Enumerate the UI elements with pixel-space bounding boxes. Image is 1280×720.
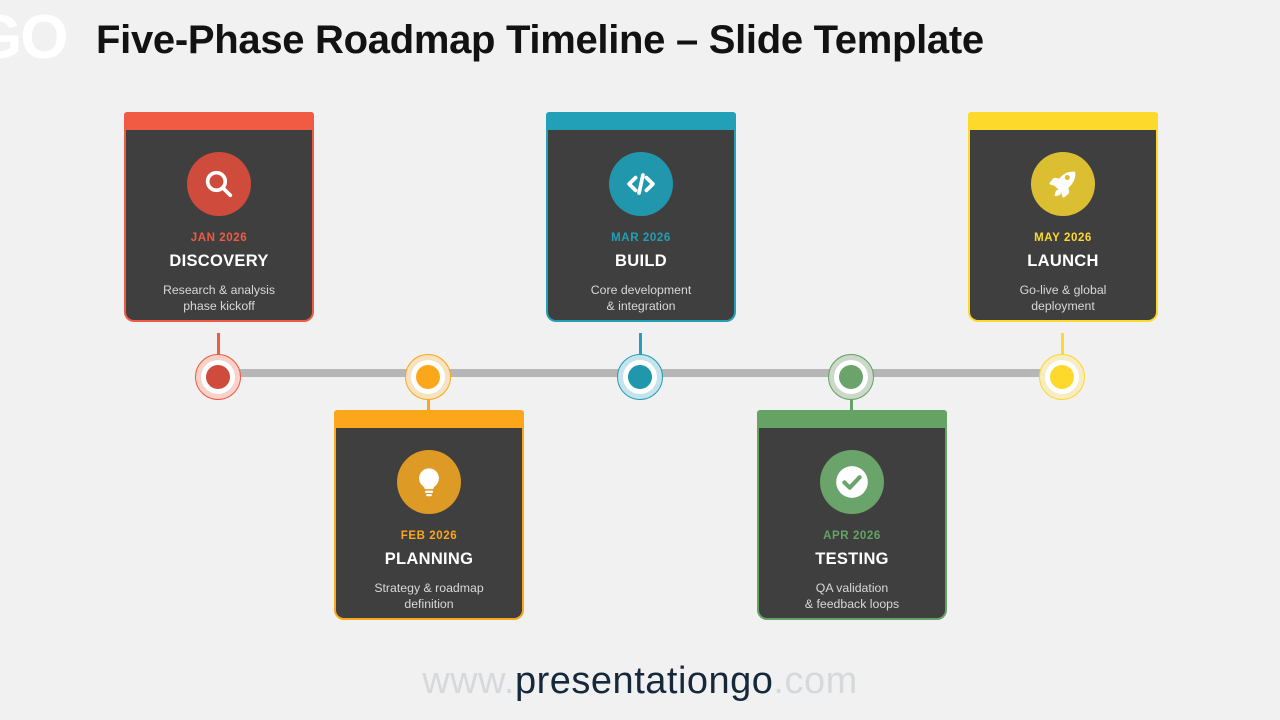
phase-heading-discovery: DISCOVERY: [136, 252, 302, 271]
phase-description-line1-planning: Strategy & roadmap: [346, 580, 512, 596]
timeline-marker-ring-discovery: [201, 360, 235, 394]
phase-heading-planning: PLANNING: [346, 550, 512, 569]
phase-description-line1-discovery: Research & analysis: [136, 282, 302, 298]
timeline-marker-testing[interactable]: [828, 354, 874, 400]
phase-description-launch: Go-live & globaldeployment: [980, 282, 1146, 314]
timeline-marker-ring-build: [623, 360, 657, 394]
footer-suffix: .com: [773, 660, 857, 702]
phase-card-topbar-planning: [334, 410, 524, 428]
phase-date-testing: APR 2026: [769, 530, 935, 542]
rocket-icon: [1031, 152, 1095, 216]
phase-description-line2-testing: & feedback loops: [769, 596, 935, 612]
phase-date-discovery: JAN 2026: [136, 232, 302, 244]
presentationgo-logo: GO: [0, 6, 84, 70]
phase-description-line2-launch: deployment: [980, 298, 1146, 314]
phase-card-planning[interactable]: FEB 2026PLANNINGStrategy & roadmapdefini…: [334, 410, 524, 620]
phase-description-testing: QA validation& feedback loops: [769, 580, 935, 612]
phase-heading-testing: TESTING: [769, 550, 935, 569]
timeline-marker-planning[interactable]: [405, 354, 451, 400]
phase-description-line1-launch: Go-live & global: [980, 282, 1146, 298]
lightbulb-icon: [397, 450, 461, 514]
phase-date-launch: MAY 2026: [980, 232, 1146, 244]
phase-card-topbar-discovery: [124, 112, 314, 130]
phase-description-line2-build: & integration: [558, 298, 724, 314]
magnifier-icon: [187, 152, 251, 216]
phase-card-launch[interactable]: MAY 2026LAUNCHGo-live & globaldeployment: [968, 112, 1158, 322]
phase-heading-launch: LAUNCH: [980, 252, 1146, 271]
timeline-marker-core-discovery: [206, 365, 230, 389]
phase-description-build: Core development& integration: [558, 282, 724, 314]
phase-heading-build: BUILD: [558, 252, 724, 271]
footer-prefix: www.: [422, 660, 515, 702]
code-brackets-icon: [609, 152, 673, 216]
phase-card-discovery[interactable]: JAN 2026DISCOVERYResearch & analysisphas…: [124, 112, 314, 322]
footer-website: www.presentationgo.com: [0, 660, 1280, 703]
phase-card-body-testing: APR 2026TESTINGQA validation& feedback l…: [757, 428, 947, 620]
phase-card-build[interactable]: MAR 2026BUILDCore development& integrati…: [546, 112, 736, 322]
check-circle-icon: [820, 450, 884, 514]
phase-description-line2-planning: definition: [346, 596, 512, 612]
timeline-marker-core-planning: [416, 365, 440, 389]
phase-card-topbar-testing: [757, 410, 947, 428]
timeline-marker-ring-launch: [1045, 360, 1079, 394]
timeline-marker-ring-testing: [834, 360, 868, 394]
page-title: Five-Phase Roadmap Timeline – Slide Temp…: [96, 18, 1216, 63]
phase-card-topbar-launch: [968, 112, 1158, 130]
phase-card-topbar-build: [546, 112, 736, 130]
phase-date-build: MAR 2026: [558, 232, 724, 244]
timeline-marker-core-testing: [839, 365, 863, 389]
phase-card-body-launch: MAY 2026LAUNCHGo-live & globaldeployment: [968, 130, 1158, 322]
slide-canvas: GO Five-Phase Roadmap Timeline – Slide T…: [0, 0, 1280, 720]
timeline-marker-build[interactable]: [617, 354, 663, 400]
phase-description-line2-discovery: phase kickoff: [136, 298, 302, 314]
phase-description-line1-build: Core development: [558, 282, 724, 298]
phase-card-body-planning: FEB 2026PLANNINGStrategy & roadmapdefini…: [334, 428, 524, 620]
phase-card-body-build: MAR 2026BUILDCore development& integrati…: [546, 130, 736, 322]
timeline-marker-core-launch: [1050, 365, 1074, 389]
phase-card-body-discovery: JAN 2026DISCOVERYResearch & analysisphas…: [124, 130, 314, 322]
footer-brand: presentationgo: [515, 660, 773, 702]
timeline-marker-launch[interactable]: [1039, 354, 1085, 400]
timeline-marker-discovery[interactable]: [195, 354, 241, 400]
phase-date-planning: FEB 2026: [346, 530, 512, 542]
phase-description-planning: Strategy & roadmapdefinition: [346, 580, 512, 612]
timeline-marker-ring-planning: [411, 360, 445, 394]
phase-description-discovery: Research & analysisphase kickoff: [136, 282, 302, 314]
timeline-marker-core-build: [628, 365, 652, 389]
phase-description-line1-testing: QA validation: [769, 580, 935, 596]
phase-card-testing[interactable]: APR 2026TESTINGQA validation& feedback l…: [757, 410, 947, 620]
